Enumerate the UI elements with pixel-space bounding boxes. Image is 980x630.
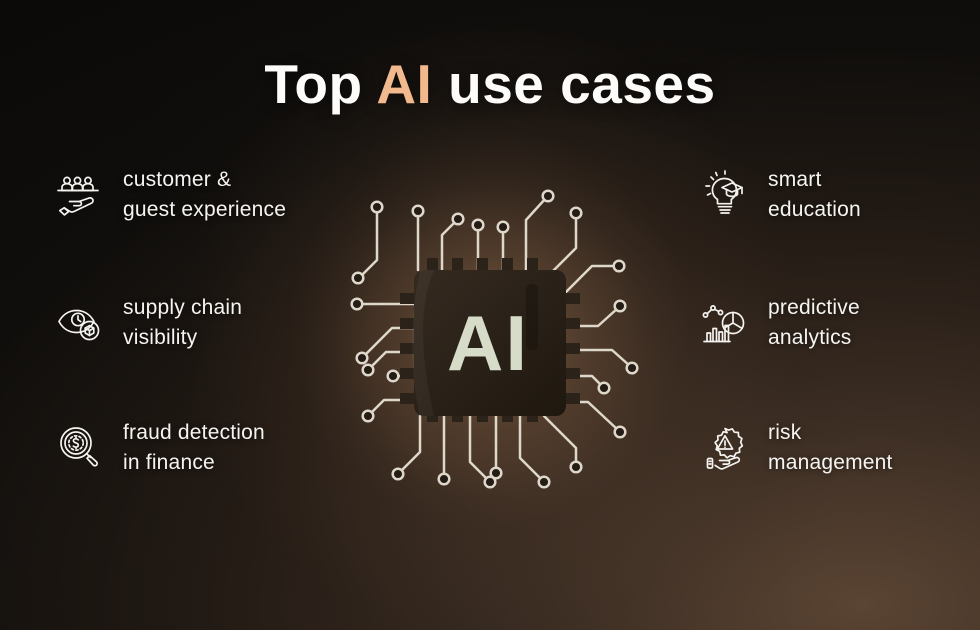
use-case-predictive-analytics[interactable]: predictive analytics	[700, 293, 860, 353]
use-case-label: risk management	[768, 418, 893, 478]
use-case-smart-education[interactable]: smart education	[700, 165, 861, 225]
use-case-label: predictive analytics	[768, 293, 860, 353]
use-case-label: customer & guest experience	[123, 165, 286, 225]
use-case-risk-management[interactable]: risk management	[700, 418, 893, 478]
title-part-1: Top	[264, 53, 376, 115]
gear-warning-hand-icon	[700, 423, 750, 473]
lightbulb-graduation-icon	[700, 170, 750, 220]
use-case-supply-chain-visibility[interactable]: supply chain visibility	[55, 293, 242, 353]
use-case-label: smart education	[768, 165, 861, 225]
ai-chip-graphic: AI	[330, 180, 650, 500]
bar-pie-chart-icon	[700, 298, 750, 348]
title-part-2: use cases	[432, 53, 715, 115]
circuit-board-illustration: AI	[330, 180, 650, 500]
customers-hand-icon	[55, 170, 105, 220]
use-case-fraud-detection-finance[interactable]: fraud detection in finance	[55, 418, 265, 478]
use-case-label: fraud detection in finance	[123, 418, 265, 478]
infographic-canvas: Top AI use cases customer & guest experi…	[0, 0, 980, 630]
chip-label: AI	[447, 299, 529, 387]
page-title: Top AI use cases	[0, 52, 980, 116]
use-case-customer-guest-experience[interactable]: customer & guest experience	[55, 165, 286, 225]
eye-package-icon	[55, 298, 105, 348]
use-case-label: supply chain visibility	[123, 293, 242, 353]
title-accent-ai: AI	[376, 53, 432, 115]
magnifier-coin-icon	[55, 423, 105, 473]
